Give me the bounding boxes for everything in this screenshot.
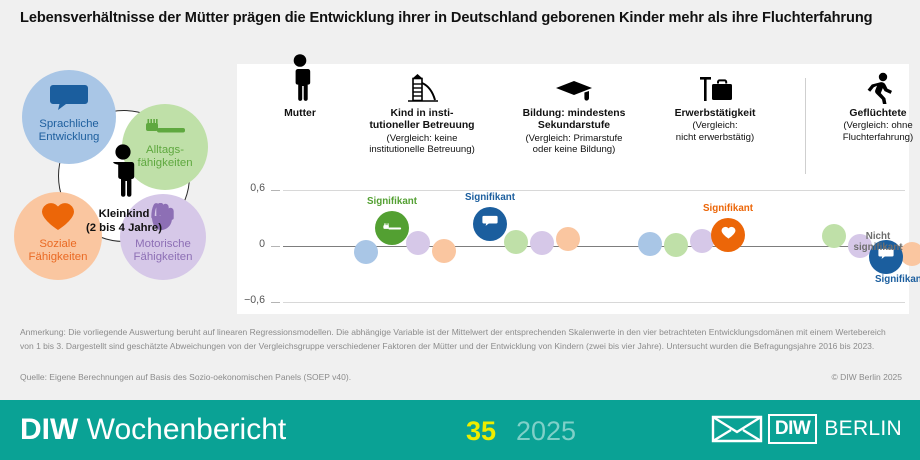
child-figure-icon xyxy=(106,144,140,203)
y-axis-label: −0,6 xyxy=(231,294,265,306)
chart-source: Quelle: Eigene Berechnungen auf Basis de… xyxy=(20,372,351,382)
column-subtitle: (Vergleich: keineinstitutionelle Betreuu… xyxy=(347,133,497,156)
point-icon xyxy=(721,226,736,244)
column-subtitle: (Vergleich: ohneFluchterfahrung) xyxy=(813,120,920,143)
data-point[interactable] xyxy=(354,240,378,264)
y-tick-mark xyxy=(271,246,280,247)
scatter-plot: 0,60−0,6SignifikantSignifikantSignifikan… xyxy=(237,182,909,310)
column-title: Erwerbstätigkeit xyxy=(645,108,785,120)
toothbrush-icon xyxy=(143,117,187,142)
domain-circle-sprachliche-entwicklung[interactable]: SprachlicheEntwicklung xyxy=(22,70,116,164)
graduation-cap-icon xyxy=(499,68,649,104)
data-point[interactable] xyxy=(638,232,662,256)
banner-issue-number: 35 xyxy=(466,416,496,447)
significance-label: Signifikant xyxy=(356,197,428,208)
running-person-icon xyxy=(813,68,920,104)
logo-diw-text: DIW xyxy=(768,414,817,444)
diw-banner: DIW Wochenbericht 35 2025 DIW BERLIN xyxy=(0,400,920,460)
domain-label: SprachlicheEntwicklung xyxy=(39,118,100,151)
page-title: Lebensverhältnisse der Mütter prägen die… xyxy=(20,8,900,29)
significance-label: Signifikant xyxy=(864,275,920,286)
chart-note: Anmerkung: Die vorliegende Auswertung be… xyxy=(20,326,900,354)
domain-label: SozialeFähigkeiten xyxy=(29,238,88,271)
y-tick-mark xyxy=(271,190,280,191)
development-domains-diagram: SprachlicheEntwicklung Alltags-fähigkeit… xyxy=(10,62,235,312)
banner-year: 2025 xyxy=(516,416,576,447)
data-point[interactable] xyxy=(432,239,456,263)
data-point[interactable] xyxy=(375,211,409,245)
column-header-mutter: Mutter xyxy=(245,68,355,120)
person-standing-icon xyxy=(245,68,355,104)
column-subtitle: (Vergleich:nicht erwerbstätig) xyxy=(645,120,785,143)
data-point[interactable] xyxy=(473,207,507,241)
diw-berlin-logo[interactable]: DIW BERLIN xyxy=(711,414,902,444)
diw-envelope-icon xyxy=(711,414,763,444)
significance-label: Signifikant xyxy=(454,193,526,204)
infographic-page: Lebensverhältnisse der Mütter prägen die… xyxy=(0,0,920,460)
banner-title: DIW Wochenbericht xyxy=(20,413,286,447)
data-point[interactable] xyxy=(556,227,580,251)
center-caption: Kleinkind(2 bis 4 Jahre) xyxy=(48,208,200,236)
column-header-erwerbstaetigkeit: Erwerbstätigkeit (Vergleich:nicht erwerb… xyxy=(645,68,785,143)
column-header-bildung: Bildung: mindestensSekundarstufe (Vergle… xyxy=(499,68,649,156)
column-header-betreuung: Kind in insti-tutioneller Betreuung (Ver… xyxy=(347,68,497,156)
column-subtitle: (Vergleich: Primarstufeoder keine Bildun… xyxy=(499,133,649,156)
copyright-text: © DIW Berlin 2025 xyxy=(831,372,902,382)
y-axis-label: 0 xyxy=(231,238,265,250)
column-divider xyxy=(805,78,806,174)
data-point[interactable] xyxy=(711,218,745,252)
column-title: Mutter xyxy=(245,108,355,120)
y-axis-label: 0,6 xyxy=(231,182,265,194)
briefcase-icon xyxy=(645,68,785,104)
point-icon xyxy=(482,215,498,233)
domain-circle-motorische-faehigkeiten[interactable]: MotorischeFähigkeiten xyxy=(120,194,206,280)
column-header-gefluechtete: Geflüchtete (Vergleich: ohneFluchterfahr… xyxy=(813,68,920,143)
gridline xyxy=(283,302,905,303)
column-title: Bildung: mindestensSekundarstufe xyxy=(499,108,649,133)
column-title: Geflüchtete xyxy=(813,108,920,120)
chart-panel: Mutter Kind in insti-tutioneller Betreuu… xyxy=(237,64,909,314)
point-icon xyxy=(382,219,402,237)
y-tick-mark xyxy=(271,302,280,303)
speech-bubble-icon xyxy=(49,83,89,116)
data-point[interactable] xyxy=(504,230,528,254)
data-point[interactable] xyxy=(406,231,430,255)
data-point[interactable] xyxy=(664,233,688,257)
domain-circle-soziale-faehigkeiten[interactable]: SozialeFähigkeiten xyxy=(14,192,102,280)
significance-label: Nicht signifikant xyxy=(842,232,914,254)
column-title: Kind in insti-tutioneller Betreuung xyxy=(347,108,497,133)
logo-berlin-text: BERLIN xyxy=(824,417,902,441)
domain-label: MotorischeFähigkeiten xyxy=(134,238,193,271)
domain-label: Alltags-fähigkeiten xyxy=(137,144,192,177)
significance-label: Signifikant xyxy=(692,204,764,215)
gridline xyxy=(283,190,905,191)
playground-slide-icon xyxy=(347,68,497,104)
data-point[interactable] xyxy=(530,231,554,255)
